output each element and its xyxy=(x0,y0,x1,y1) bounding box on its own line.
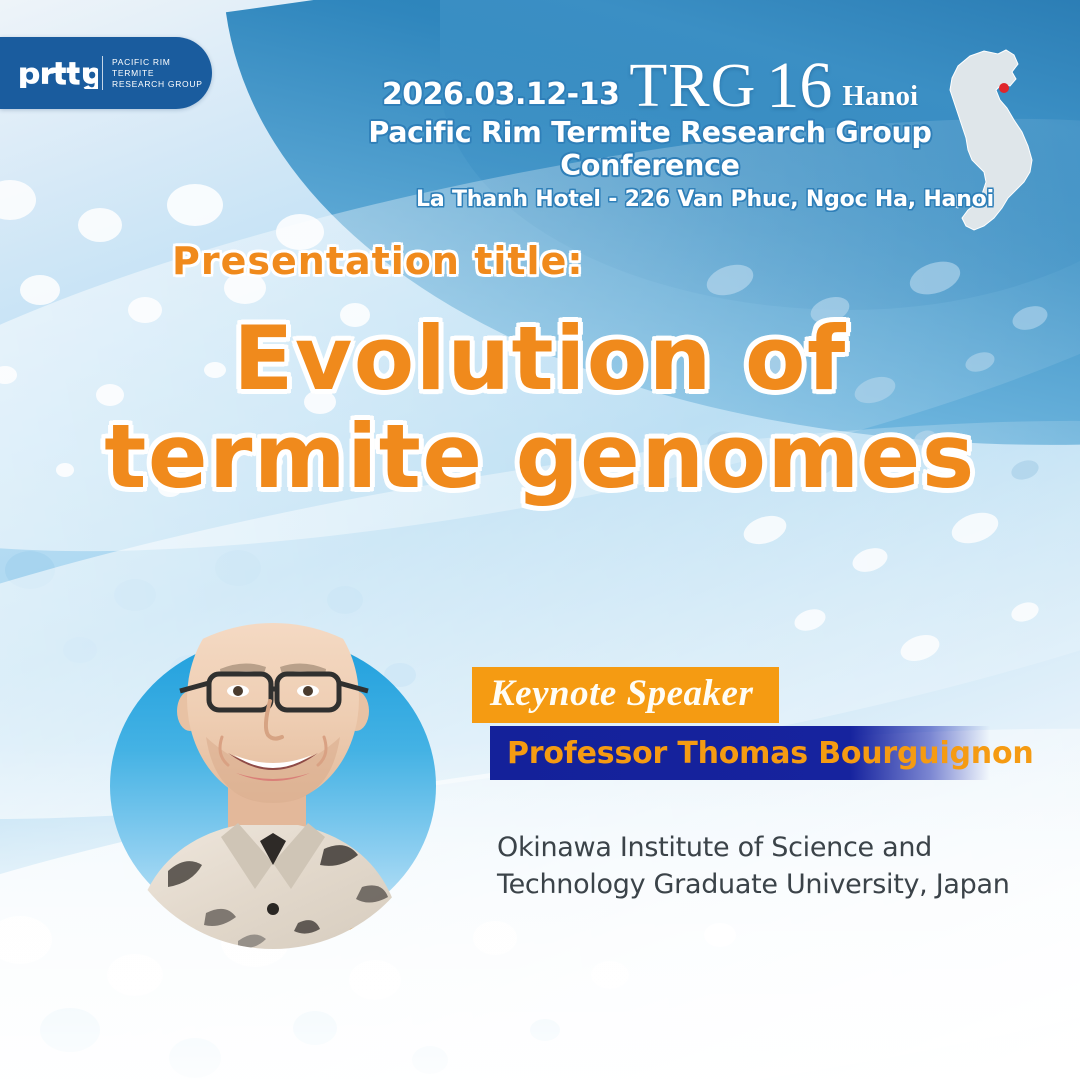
conference-acronym: TRG xyxy=(629,58,756,114)
conference-full-name: Pacific Rim Termite Research Group Confe… xyxy=(300,116,1000,182)
prtrg-logo[interactable]: PACIFIC RIM TERMITE RESEARCH GROUP xyxy=(0,37,212,109)
prtrg-wordmark-icon xyxy=(16,56,98,90)
logo-tagline: PACIFIC RIM TERMITE RESEARCH GROUP xyxy=(112,57,203,89)
conference-city: Hanoi xyxy=(842,81,918,114)
conference-title-row: 2026.03.12-13 TRG 16 Hanoi xyxy=(300,58,1000,114)
conference-venue: La Thanh Hotel - 226 Van Phuc, Ngoc Ha, … xyxy=(300,187,1000,212)
keynote-speaker-badge-label: Keynote Speaker xyxy=(490,673,753,714)
conference-edition-number: 16 xyxy=(766,58,832,114)
conference-header: 2026.03.12-13 TRG 16 Hanoi Pacific Rim T… xyxy=(300,58,1000,212)
logo-tagline-line-1: PACIFIC RIM xyxy=(112,57,203,67)
speaker-affiliation: Okinawa Institute of Science and Technol… xyxy=(497,829,1017,903)
speaker-name-bar: Professor Thomas Bourguignon xyxy=(490,726,990,780)
speaker-portrait-photo xyxy=(110,636,436,936)
keynote-speaker-badge: Keynote Speaker xyxy=(472,667,779,723)
logo-divider xyxy=(102,56,103,90)
logo-tagline-line-2: TERMITE xyxy=(112,68,203,78)
hanoi-marker-icon xyxy=(999,83,1009,93)
logo-tagline-line-3: RESEARCH GROUP xyxy=(112,79,203,89)
conference-poster: PACIFIC RIM TERMITE RESEARCH GROUP 2026.… xyxy=(0,0,1080,1080)
presentation-title-line-2: termite genomes xyxy=(60,408,1020,506)
presentation-title-label: Presentation title: xyxy=(172,239,584,283)
presentation-title-line-1: Evolution of xyxy=(60,310,1020,408)
speaker-affiliation-line-1: Okinawa Institute of Science and xyxy=(497,829,1017,866)
presentation-title: Evolution of termite genomes xyxy=(0,310,1080,506)
speaker-name: Professor Thomas Bourguignon xyxy=(507,736,1034,771)
speaker-affiliation-line-2: Technology Graduate University, Japan xyxy=(497,866,1017,903)
conference-date: 2026.03.12-13 xyxy=(382,80,619,114)
